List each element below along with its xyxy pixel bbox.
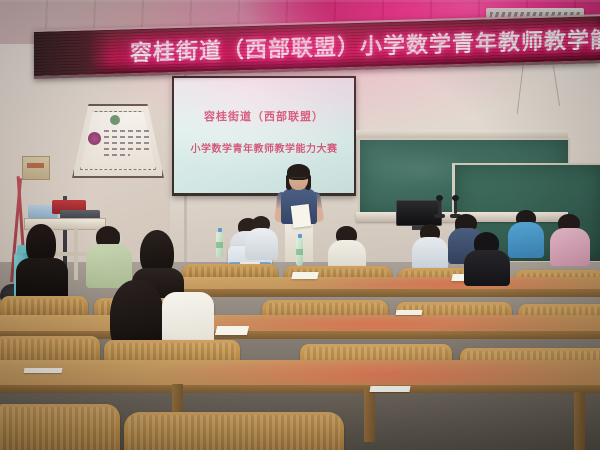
classroom-photo-scene: 容桂街道（西部联盟） 小学数学青年教师教学能力大赛 容桂街道（西部联盟）小学数学… xyxy=(0,0,600,450)
led-banner-dim-segment xyxy=(34,30,112,76)
projection-screen: 容桂街道（西部联盟） 小学数学青年教师教学能力大赛 xyxy=(174,78,354,193)
desk-back-panel xyxy=(0,336,100,362)
paper-card xyxy=(369,386,410,392)
microphone-base xyxy=(434,214,445,218)
water-bottle xyxy=(296,238,303,266)
presenter-papers xyxy=(291,204,312,228)
paper-sheet xyxy=(291,272,318,279)
desk-back-panel xyxy=(0,296,88,315)
microphone-icon xyxy=(438,198,441,214)
podium-monitor xyxy=(396,200,442,226)
desk-row-2 xyxy=(0,315,600,332)
desk-back-panel xyxy=(124,412,344,450)
desk-row-3 xyxy=(178,277,600,290)
paper-sheet xyxy=(215,326,249,335)
slide-title-line-2: 小学数学青年教师教学能力大赛 xyxy=(174,140,354,155)
microphone-icon xyxy=(454,198,457,214)
water-bottle xyxy=(216,232,223,258)
paper-card xyxy=(396,310,423,315)
desk-back-panel xyxy=(0,404,120,450)
desk-row-1 xyxy=(0,360,600,386)
plaque-seal-icon xyxy=(88,132,101,145)
paper-card xyxy=(24,368,63,373)
led-banner-text: 容桂街道（西部联盟）小学数学青年教师教学能力大赛 xyxy=(130,20,600,67)
slide-title-line-1: 容桂街道（西部联盟） xyxy=(174,108,354,124)
plaque-text-lines xyxy=(104,130,152,160)
fan-wall-plaque xyxy=(72,104,164,178)
desk-leg xyxy=(364,388,375,442)
projector-glow xyxy=(174,78,354,182)
plaque-logo-icon xyxy=(110,115,120,125)
desk-leg xyxy=(574,392,585,450)
presenter-glasses-icon xyxy=(291,177,306,182)
electrical-box xyxy=(22,156,50,180)
blackboard-top-rail xyxy=(356,130,568,138)
